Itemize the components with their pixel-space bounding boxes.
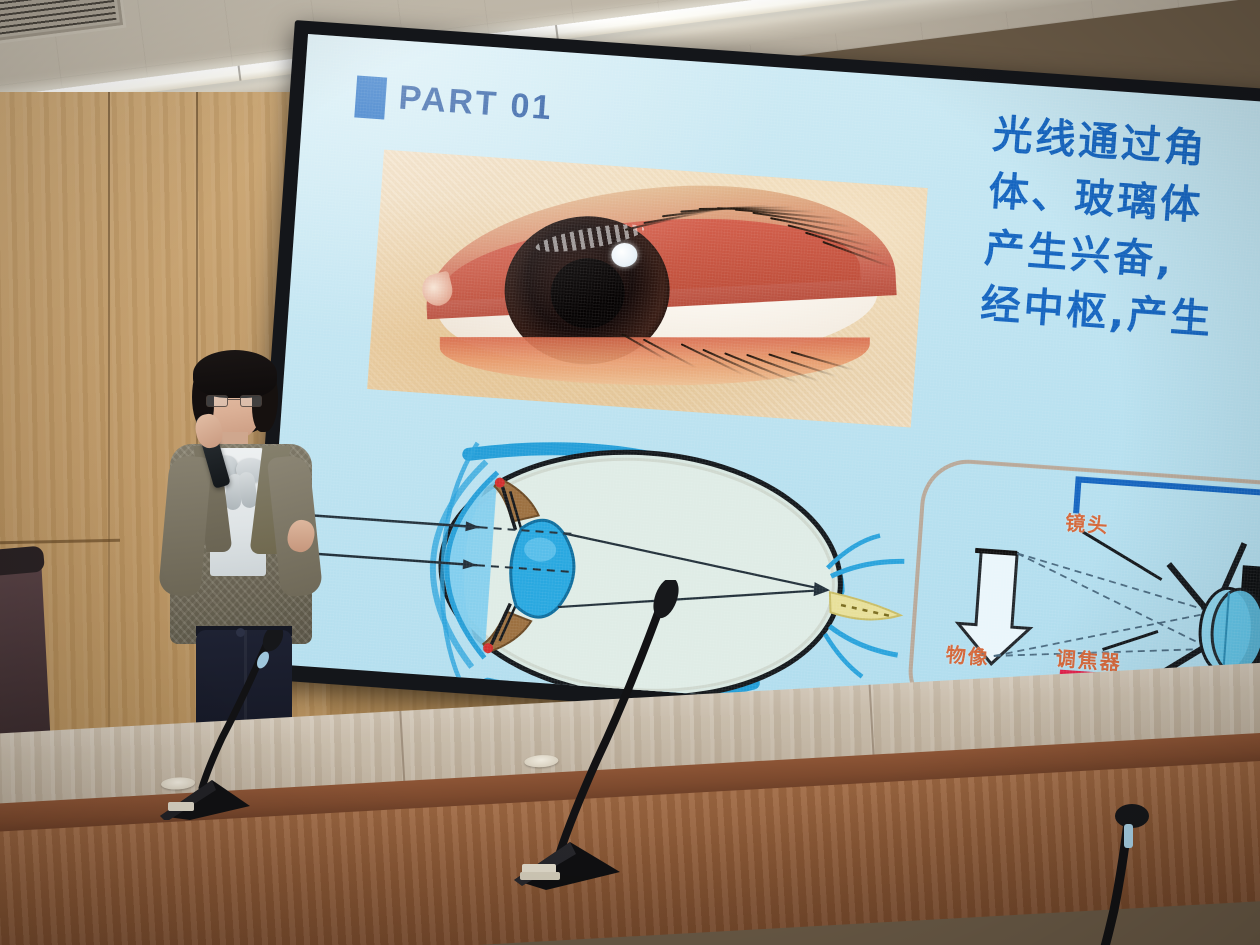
camera-label-lens: 镜头 (1065, 507, 1111, 539)
part-accent-marker (354, 76, 387, 120)
part-title: PART 01 (397, 79, 554, 129)
slide-surface: PART 01 光线通过角 体、玻璃体 产生兴奋, 经中枢,产生 (263, 34, 1260, 734)
gooseneck-mic-right[interactable] (1080, 800, 1220, 945)
presentation-room-scene: PART 01 光线通过角 体、玻璃体 产生兴奋, 经中枢,产生 (0, 0, 1260, 945)
slide-body-text: 光线通过角 体、玻璃体 产生兴奋, 经中枢,产生 (979, 107, 1260, 363)
gooseneck-mic-left[interactable] (150, 630, 290, 820)
screen-bezel: PART 01 光线通过角 体、玻璃体 产生兴奋, 经中枢,产生 (248, 20, 1260, 750)
eye-catchlight (611, 243, 638, 268)
gooseneck-mic-center[interactable] (500, 580, 690, 890)
glasses-icon (206, 395, 264, 407)
presenter-hair-front (193, 350, 277, 398)
vent-louvers (0, 0, 116, 35)
eye-photograph (367, 150, 928, 428)
eye-pupil (550, 257, 626, 329)
projection-screen: PART 01 光线通过角 体、玻璃体 产生兴奋, 经中枢,产生 (248, 20, 1260, 750)
camera-label-object-image: 物像 (945, 639, 991, 671)
